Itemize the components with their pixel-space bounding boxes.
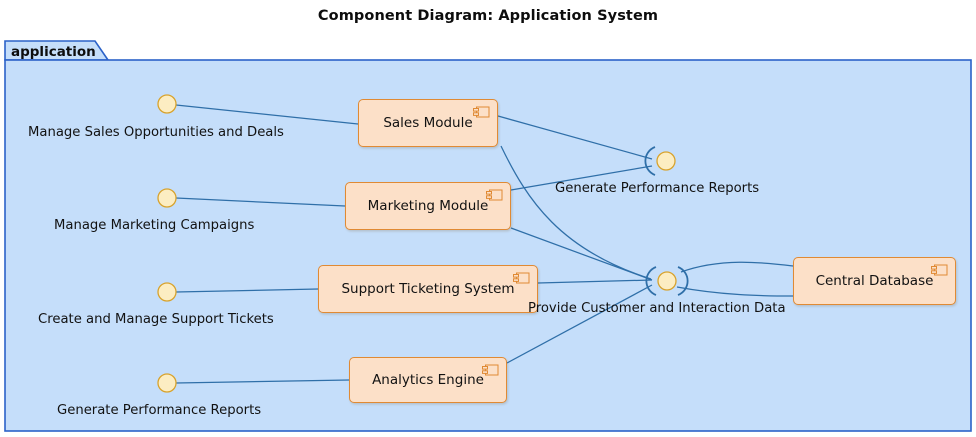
interface-label-create-and-manage-support-tickets: Create and Manage Support Tickets [38, 312, 274, 327]
interface-circle-generate-performance-reports-left[interactable] [158, 374, 176, 392]
interface-label-manage-marketing-campaigns: Manage Marketing Campaigns [54, 218, 254, 233]
component-icon [486, 189, 503, 201]
interface-circle-manage-sales-opportunities-and-deals[interactable] [158, 95, 176, 113]
component-sales-module[interactable]: Sales Module [358, 99, 498, 147]
component-marketing-module[interactable]: Marketing Module [345, 182, 511, 230]
component-central-database[interactable]: Central Database [793, 257, 956, 305]
interface-circle-generate-performance-reports-hub[interactable] [657, 152, 675, 170]
component-label: Marketing Module [360, 198, 497, 214]
component-label: Analytics Engine [364, 372, 492, 388]
component-label: Central Database [808, 273, 942, 289]
component-icon [473, 106, 490, 118]
interface-circle-create-and-manage-support-tickets[interactable] [158, 283, 176, 301]
package-label: application [11, 44, 96, 60]
component-diagram-root: Component Diagram: Application System [0, 0, 976, 437]
interface-label-provide-customer-and-interaction-data-hub: Provide Customer and Interaction Data [528, 301, 786, 316]
component-label: Sales Module [375, 115, 480, 131]
component-label: Support Ticketing System [333, 281, 522, 297]
interface-label-generate-performance-reports-hub: Generate Performance Reports [555, 181, 759, 196]
interface-label-manage-sales-opportunities-and-deals: Manage Sales Opportunities and Deals [28, 125, 284, 140]
component-support-ticketing-system[interactable]: Support Ticketing System [318, 265, 538, 313]
interface-circle-manage-marketing-campaigns[interactable] [158, 189, 176, 207]
component-icon [482, 364, 499, 376]
interface-circle-provide-customer-and-interaction-data-hub[interactable] [658, 272, 676, 290]
component-icon [931, 264, 948, 276]
component-analytics-engine[interactable]: Analytics Engine [349, 357, 507, 403]
component-icon [513, 272, 530, 284]
interface-label-generate-performance-reports-left: Generate Performance Reports [57, 403, 261, 418]
